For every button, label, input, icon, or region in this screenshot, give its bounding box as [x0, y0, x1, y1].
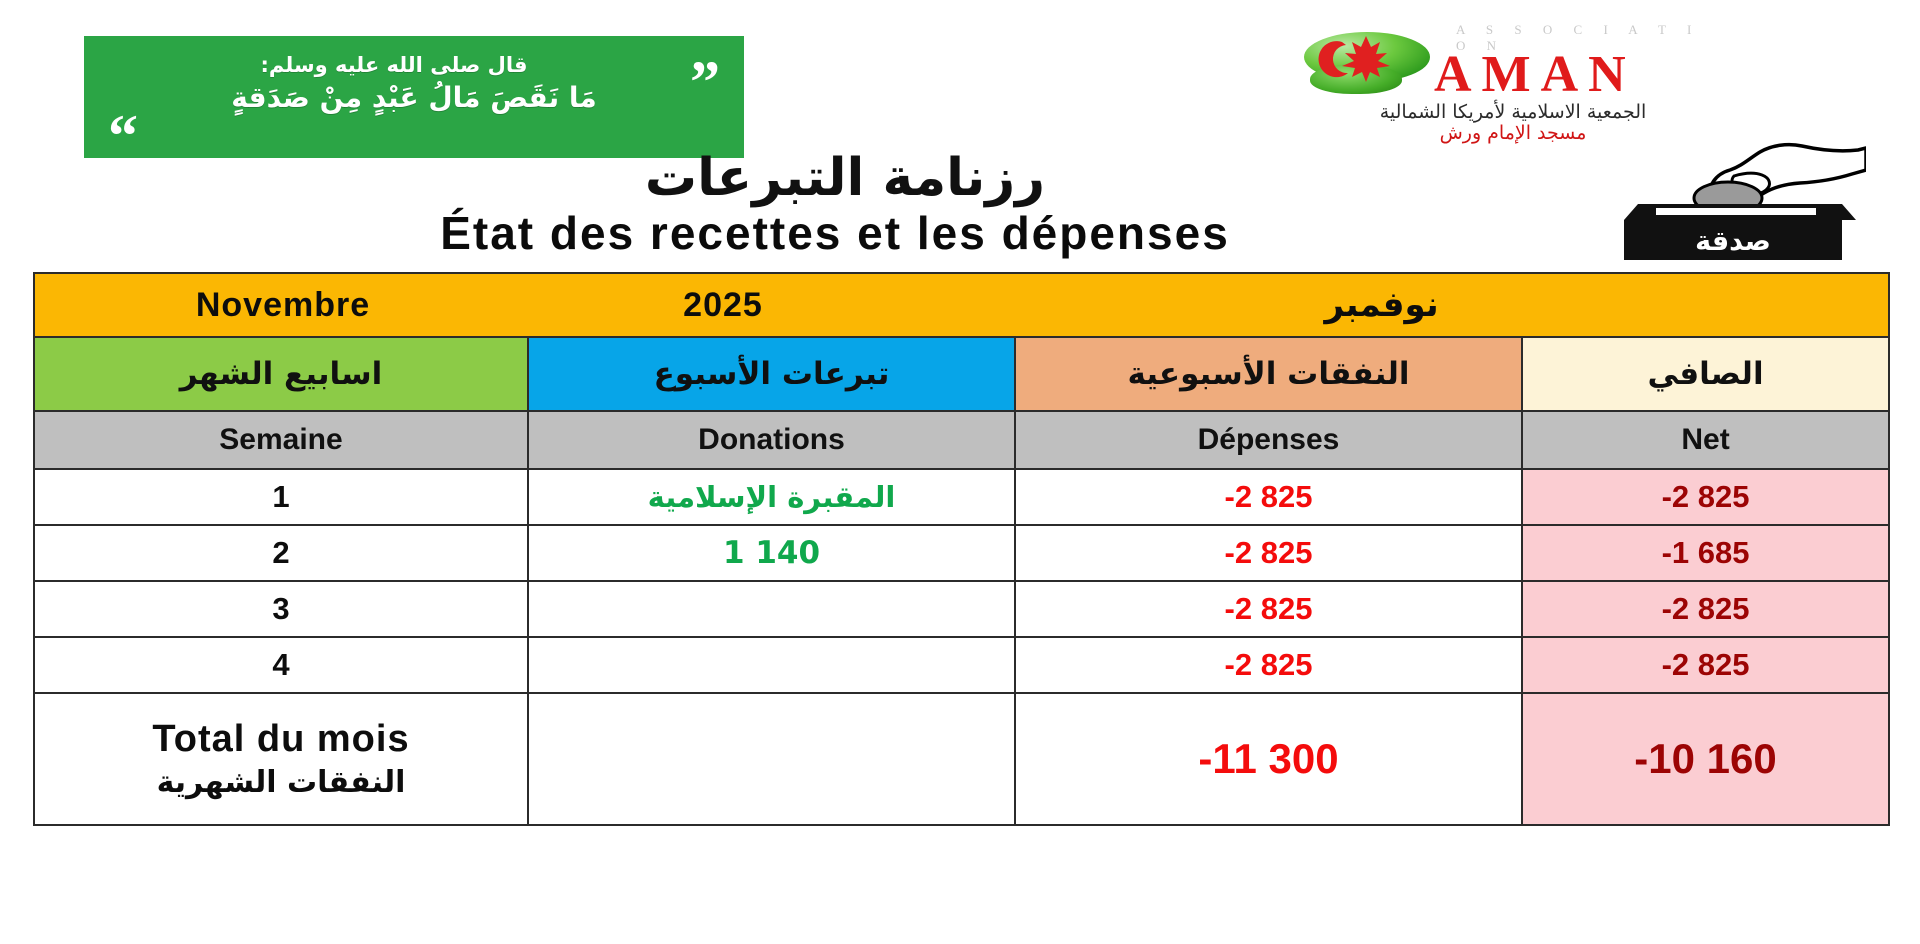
quote-close-icon: ”: [690, 64, 720, 100]
page-header: ” قال صلى الله عليه وسلم: مَا نَقَصَ مَا…: [0, 0, 1920, 268]
table-row: 2 1 140 -2 825 -1 685: [34, 525, 1889, 581]
week-number: 4: [34, 637, 528, 693]
week-number: 3: [34, 581, 528, 637]
logo-aman-text: AMAN: [1434, 50, 1728, 99]
total-label-french: Total du mois: [35, 719, 527, 761]
hadith-intro-text: قال صلى الله عليه وسلم:: [102, 52, 686, 78]
month-name-arabic: نوفمبر: [943, 285, 1860, 325]
depenses-value: -2 825: [1015, 637, 1522, 693]
total-depenses-value: -11 300: [1015, 693, 1522, 825]
header-donations: Donations: [528, 411, 1015, 469]
total-row: Total du mois النفقات الشهرية -11 300 -1…: [34, 693, 1889, 825]
month-band-cell: Novembre 2025 نوفمبر: [34, 273, 1889, 337]
total-donations-value: [528, 693, 1015, 825]
svg-text:صدقة: صدقة: [1695, 226, 1771, 257]
hadith-body-text: مَا نَقَصَ مَالُ عَبْدٍ مِنْ صَدَقةٍ: [102, 80, 726, 115]
page-title-arabic: رزنامة التبرعات: [0, 148, 1690, 208]
total-net-value: -10 160: [1522, 693, 1889, 825]
week-number: 1: [34, 469, 528, 525]
month-name-french: Novembre: [63, 286, 503, 325]
month-year: 2025: [503, 286, 943, 325]
hadith-quote-card: ” قال صلى الله عليه وسلم: مَا نَقَصَ مَا…: [84, 36, 744, 158]
donations-value: 1 140: [528, 525, 1015, 581]
table-row: 1 المقبرة الإسلامية -2 825 -2 825: [34, 469, 1889, 525]
aman-logo: A S S O C I A T I O N AMAN الجمعية الاسل…: [1298, 22, 1728, 142]
table-row: 3 -2 825 -2 825: [34, 581, 1889, 637]
logo-wordmark: A S S O C I A T I O N AMAN: [1434, 22, 1728, 99]
net-value: -2 825: [1522, 469, 1889, 525]
recettes-depenses-table: Novembre 2025 نوفمبر اسابيع الشهر تبرعات…: [33, 272, 1890, 826]
donations-value: [528, 581, 1015, 637]
header-net: Net: [1522, 411, 1889, 469]
header-semaine: Semaine: [34, 411, 528, 469]
depenses-value: -2 825: [1015, 525, 1522, 581]
net-value: -2 825: [1522, 581, 1889, 637]
donations-value: المقبرة الإسلامية: [528, 469, 1015, 525]
page-title-french: État des recettes et les dépenses: [0, 206, 1670, 260]
logo-row: A S S O C I A T I O N AMAN: [1298, 22, 1728, 100]
header-weeks-arabic: اسابيع الشهر: [34, 337, 528, 411]
aman-leaf-crescent-icon: [1298, 24, 1434, 98]
sadaqa-donation-box-icon: صدقة: [1616, 142, 1866, 262]
donations-value: [528, 637, 1015, 693]
total-label-cell: Total du mois النفقات الشهرية: [34, 693, 528, 825]
header-row-arabic: اسابيع الشهر تبرعات الأسبوع النفقات الأس…: [34, 337, 1889, 411]
net-value: -1 685: [1522, 525, 1889, 581]
header-depenses: Dépenses: [1015, 411, 1522, 469]
header-expenses-arabic: النفقات الأسبوعية: [1015, 337, 1522, 411]
header-net-arabic: الصافي: [1522, 337, 1889, 411]
table-row: 4 -2 825 -2 825: [34, 637, 1889, 693]
net-value: -2 825: [1522, 637, 1889, 693]
header-row-french: Semaine Donations Dépenses Net: [34, 411, 1889, 469]
week-number: 2: [34, 525, 528, 581]
header-donations-arabic: تبرعات الأسبوع: [528, 337, 1015, 411]
month-band-row: Novembre 2025 نوفمبر: [34, 273, 1889, 337]
logo-mosque-arabic: مسجد الإمام ورش: [1298, 122, 1728, 144]
depenses-value: -2 825: [1015, 469, 1522, 525]
depenses-value: -2 825: [1015, 581, 1522, 637]
logo-subtitle-arabic: الجمعية الاسلامية لأمريكا الشمالية: [1298, 101, 1728, 123]
total-label-arabic: النفقات الشهرية: [35, 766, 527, 799]
